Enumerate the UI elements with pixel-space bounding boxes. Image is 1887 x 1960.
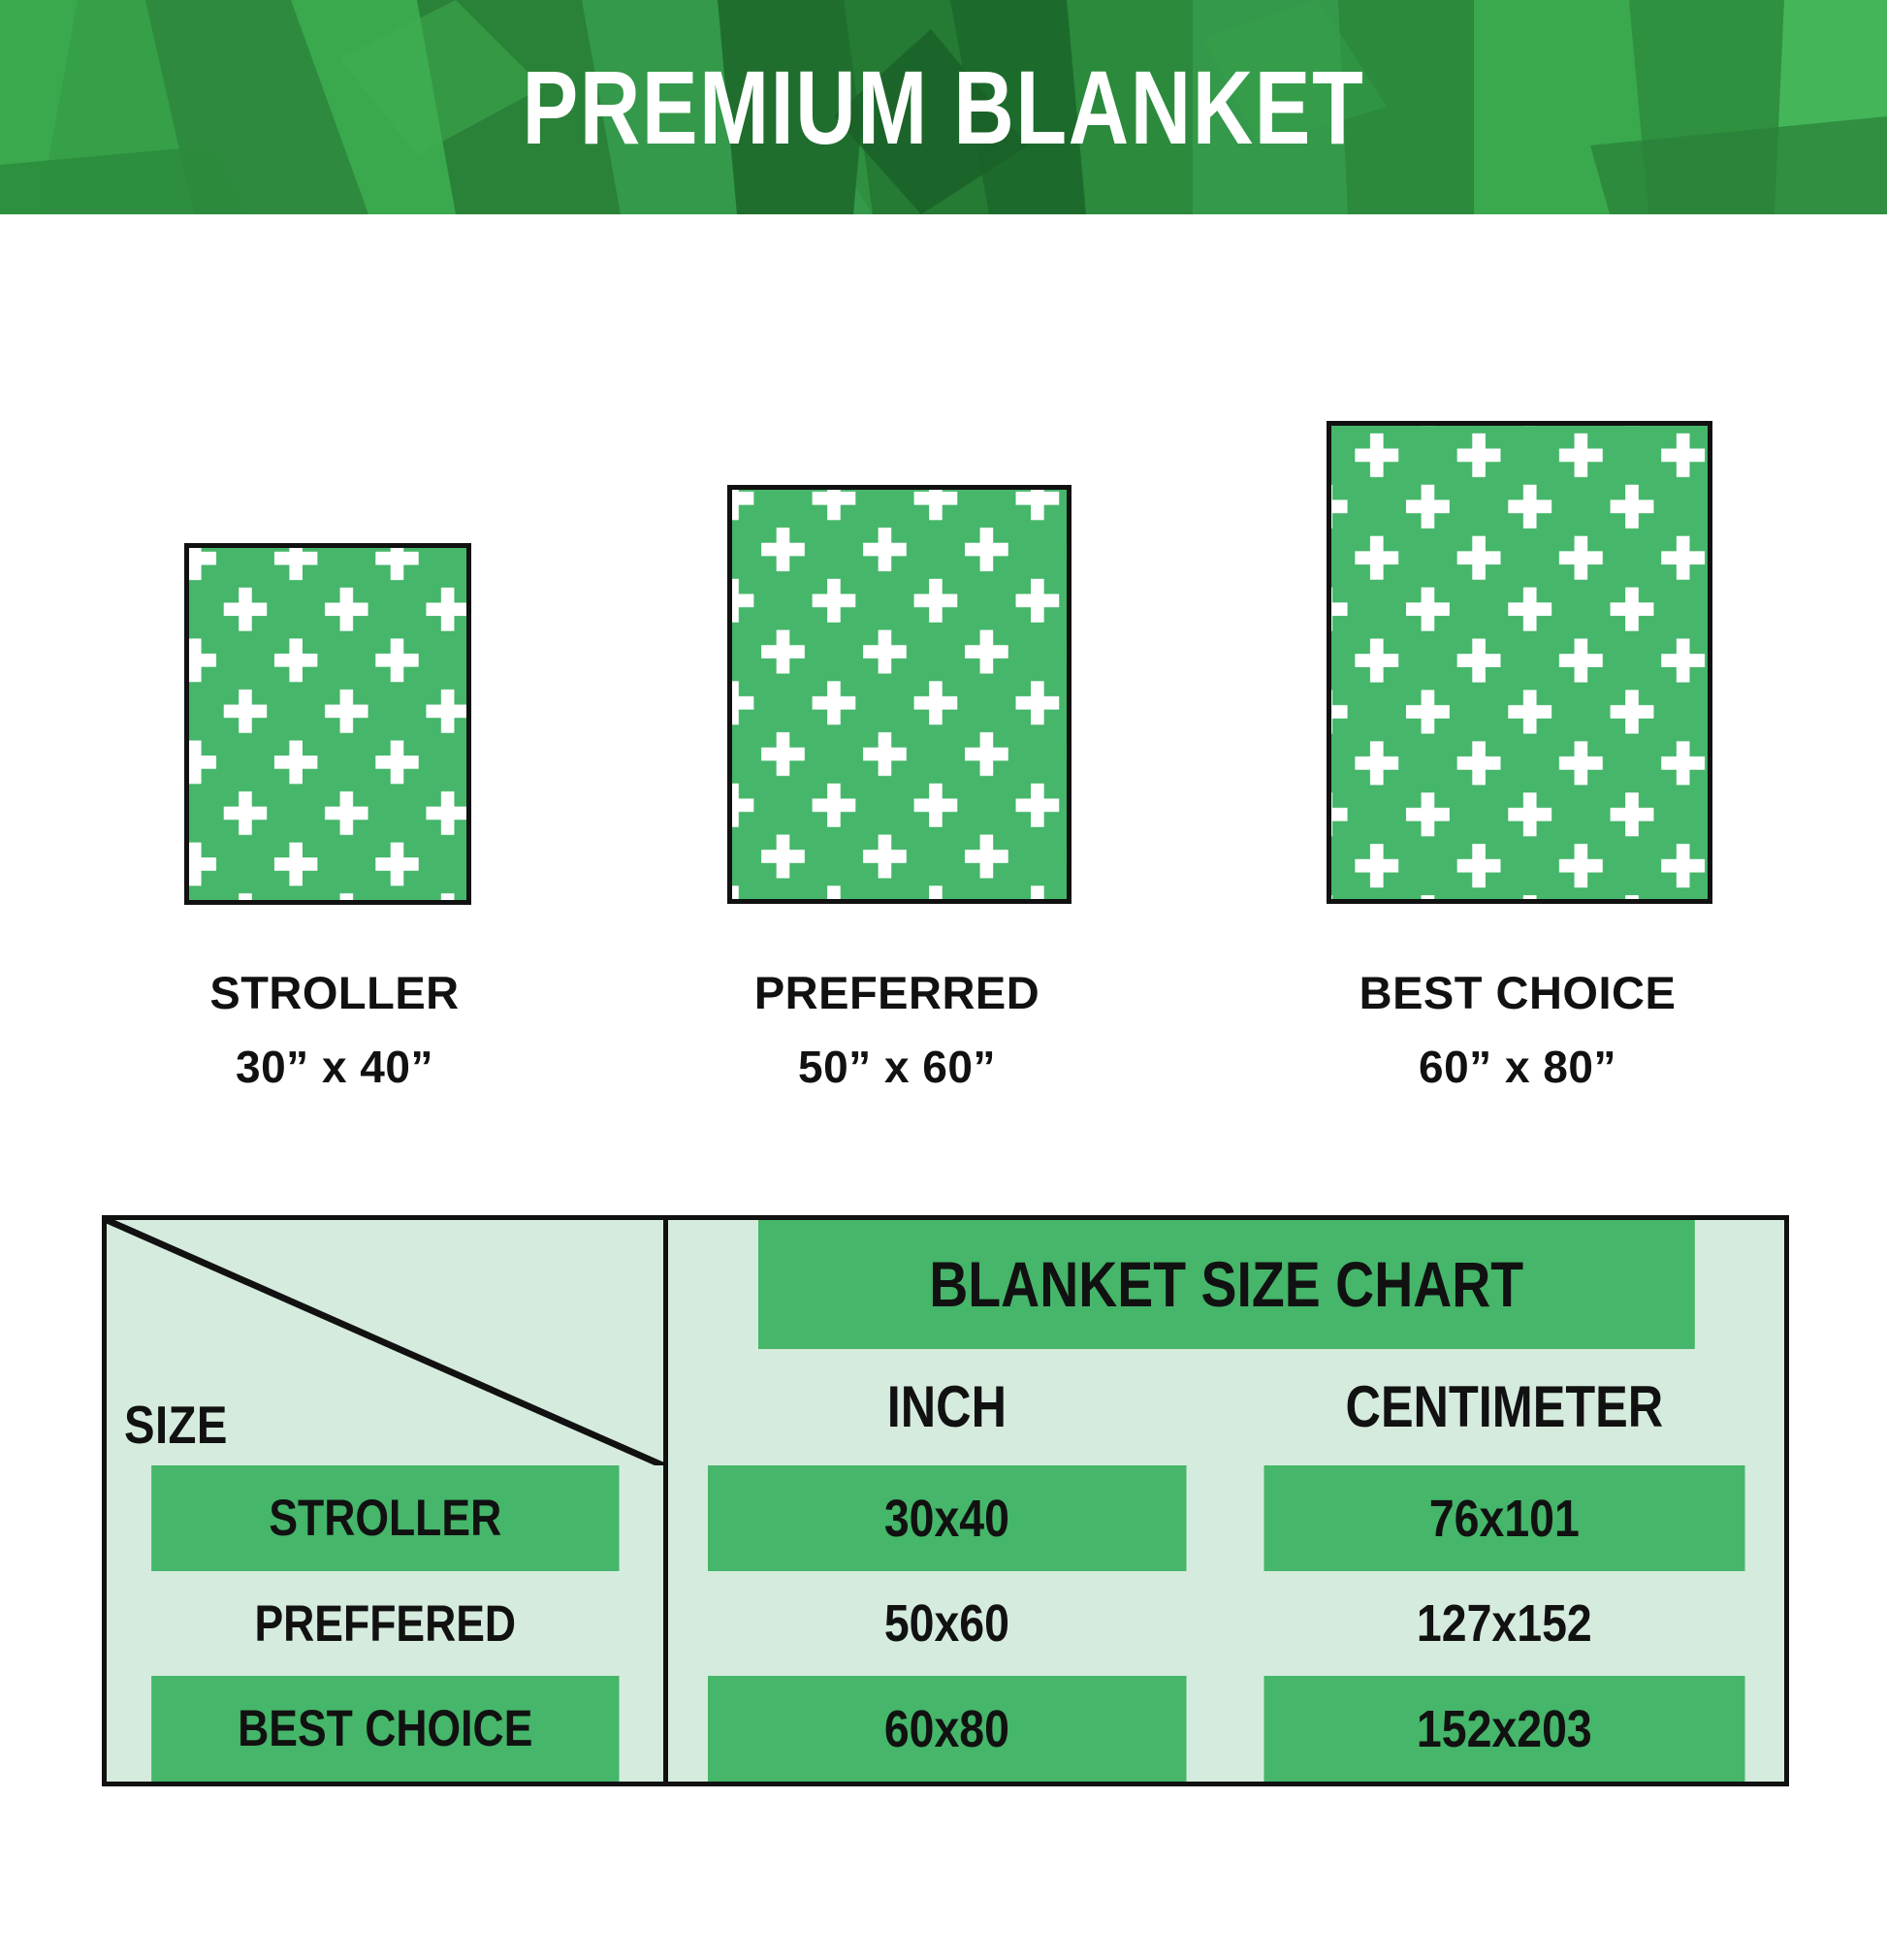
table-cell-stroller-cm: 76x101 xyxy=(1264,1465,1745,1571)
swatch-caption-stroller: STROLLER 30” x 40” xyxy=(116,970,553,1089)
blanket-size-chart-table: SIZE BLANKET SIZE CHART INCH CENTIMETER … xyxy=(102,1215,1789,1786)
blanket-swatch-best-choice xyxy=(1327,421,1712,904)
table-row-label-best-choice: BEST CHOICE xyxy=(151,1676,621,1782)
swatch-dims-preferred: 50” x 60” xyxy=(679,1044,1115,1089)
swatch-name-stroller: STROLLER xyxy=(116,970,553,1015)
swatch-dims-best-choice: 60” x 80” xyxy=(1285,1044,1750,1089)
table-row: BEST CHOICE 60x80 152x203 xyxy=(107,1676,1784,1782)
table-row-title: SIZE BLANKET SIZE CHART xyxy=(107,1220,1784,1349)
table-header-centimeter: CENTIMETER xyxy=(1269,1349,1739,1466)
swatch-caption-best-choice: BEST CHOICE 60” x 80” xyxy=(1285,970,1750,1089)
cross-pattern-icon xyxy=(1331,426,1708,899)
swatch-dims-stroller: 30” x 40” xyxy=(116,1044,553,1089)
table-cell-best-choice-inch: 60x80 xyxy=(705,1676,1186,1782)
table-cell-best-choice-cm: 152x203 xyxy=(1264,1676,1745,1782)
table-row: PREFFERED 50x60 127x152 xyxy=(107,1571,1784,1677)
table-header-inch: INCH xyxy=(711,1349,1180,1466)
swatch-name-best-choice: BEST CHOICE xyxy=(1285,970,1750,1015)
table-cell-preffered-inch: 50x60 xyxy=(705,1571,1186,1677)
page-title: PREMIUM BLANKET xyxy=(189,0,1699,214)
blanket-swatch-preferred xyxy=(727,485,1071,904)
cross-pattern-icon xyxy=(732,490,1067,899)
table-row: STROLLER 30x40 76x101 xyxy=(107,1465,1784,1571)
table-corner-size-cell: SIZE xyxy=(107,1220,666,1465)
table-corner-label: SIZE xyxy=(124,1398,228,1452)
table-row-label-stroller: STROLLER xyxy=(151,1465,621,1571)
table-cell-stroller-inch: 30x40 xyxy=(705,1465,1186,1571)
blanket-swatch-stroller xyxy=(184,543,471,905)
table-row-label-preffered: PREFFERED xyxy=(151,1571,621,1677)
page-header: PREMIUM BLANKET xyxy=(0,0,1887,214)
table-cell-preffered-cm: 127x152 xyxy=(1264,1571,1745,1677)
swatch-name-preferred: PREFERRED xyxy=(679,970,1115,1015)
table-title-cell: BLANKET SIZE CHART xyxy=(755,1220,1695,1349)
swatch-caption-preferred: PREFERRED 50” x 60” xyxy=(679,970,1115,1089)
cross-pattern-icon xyxy=(189,548,466,900)
